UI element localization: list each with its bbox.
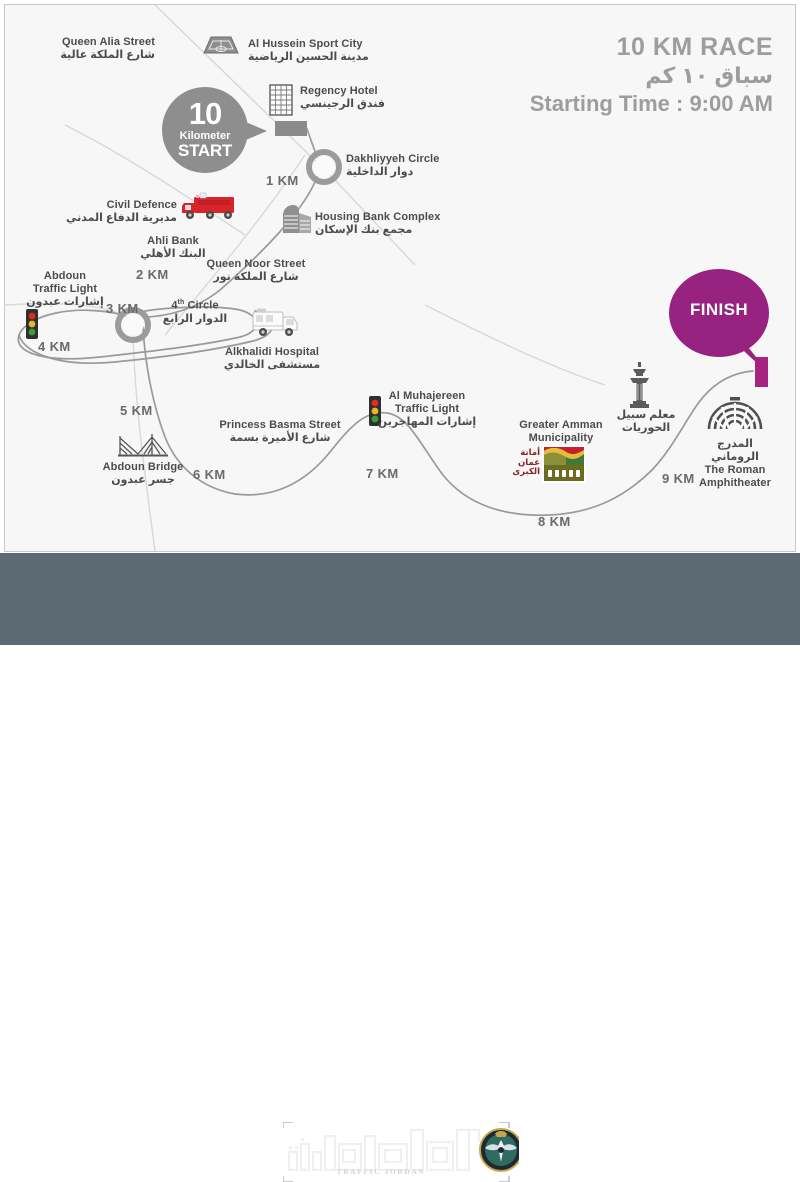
label-housing-bank-complex: Housing Bank Complex مجمع بنك الإسكان bbox=[315, 211, 440, 237]
label-greater-amman-municipality: Greater Amman Municipality bbox=[509, 419, 613, 445]
label-regency-hotel: Regency Hotel فندق الرجينسي bbox=[300, 85, 385, 111]
label-abdoun-traffic-light: Abdoun Traffic Light إشارات عبدون bbox=[25, 270, 105, 309]
race-start-time: Starting Time : 9:00 AM bbox=[530, 90, 773, 118]
building-icon bbox=[283, 205, 311, 233]
label-al-hussein-sport-city: Al Hussein Sport City مدينة الحسين الريا… bbox=[248, 38, 369, 64]
race-title-en: 10 KM RACE bbox=[530, 33, 773, 62]
traffic-light-icon-abdoun bbox=[26, 309, 38, 339]
label-dakhliyyeh-circle: Dakhliyyeh Circle دوار الداخلية bbox=[346, 153, 439, 179]
label-fourth-circle: 4th Circle الدوار الرابع bbox=[155, 299, 235, 326]
label-alkhalidi-hospital: Alkhalidi Hospital مستشفى الخالدي bbox=[217, 346, 327, 372]
monument-icon bbox=[630, 362, 649, 408]
finish-point-marker bbox=[755, 357, 768, 387]
start-marker: 10 Kilometer START bbox=[162, 87, 248, 173]
km-3: 3 KM bbox=[106, 301, 139, 316]
footer-bar: TRAFFIC JORDAN bbox=[0, 553, 800, 645]
label-queen-noor-street: Queen Noor Street شارع الملكة نور bbox=[201, 258, 311, 284]
amphitheater-icon bbox=[709, 397, 761, 429]
traffic-jordan-text: TRAFFIC JORDAN bbox=[283, 1167, 479, 1176]
label-civil-defence: Civil Defence مديرية الدفاع المدني bbox=[75, 199, 177, 225]
start-point-marker bbox=[275, 121, 307, 136]
race-header: 10 KM RACE سباق ١٠ كم Starting Time : 9:… bbox=[530, 33, 773, 118]
roundabout-icon-dakhliyyeh bbox=[309, 152, 339, 182]
km-1: 1 KM bbox=[266, 173, 299, 188]
km-4: 4 KM bbox=[38, 339, 71, 354]
km-2: 2 KM bbox=[136, 267, 169, 282]
label-abdoun-bridge: Abdoun Bridge جسر عبدون bbox=[93, 461, 193, 487]
start-km-number: 10 bbox=[162, 87, 248, 129]
ambulance-icon bbox=[253, 309, 297, 337]
start-label: START bbox=[162, 142, 248, 159]
stadium-icon bbox=[204, 37, 238, 53]
race-map-poster: 10 KM RACE سباق ١٠ كم Starting Time : 9:… bbox=[0, 0, 800, 645]
police-emblem-icon bbox=[480, 1129, 519, 1171]
km-8: 8 KM bbox=[538, 514, 571, 529]
fire-truck-icon bbox=[182, 193, 234, 219]
gam-logo-icon bbox=[542, 445, 586, 483]
label-ahli-bank: Ahli Bank البنك الأهلي bbox=[137, 235, 209, 261]
fourth-circle-en: 4th Circle bbox=[155, 299, 235, 313]
label-roman-amphitheater: المدرج الروماني The Roman Amphitheater bbox=[690, 438, 780, 490]
map-panel: 10 KM RACE سباق ١٠ كم Starting Time : 9:… bbox=[4, 4, 796, 552]
race-title-ar: سباق ١٠ كم bbox=[530, 62, 773, 90]
km-5: 5 KM bbox=[120, 403, 153, 418]
km-6: 6 KM bbox=[193, 467, 226, 482]
finish-label: FINISH bbox=[669, 300, 769, 320]
label-princess-basma-street: Princess Basma Street شارع الأميرة بسمة bbox=[212, 419, 348, 445]
label-sabeel-al-hourriyat: معلم سبيل الحوريات bbox=[610, 409, 682, 435]
km-7: 7 KM bbox=[366, 466, 399, 481]
label-queen-alia-street: Queen Alia Street شارع الملكة عالية bbox=[25, 36, 155, 62]
km-9: 9 KM bbox=[662, 471, 695, 486]
hotel-icon bbox=[270, 85, 292, 115]
label-gam-logo-text: أمانة عمان الكبرى bbox=[500, 448, 540, 477]
label-al-muhajereen-traffic-light: Al Muhajereen Traffic Light إشارات المها… bbox=[375, 390, 479, 429]
